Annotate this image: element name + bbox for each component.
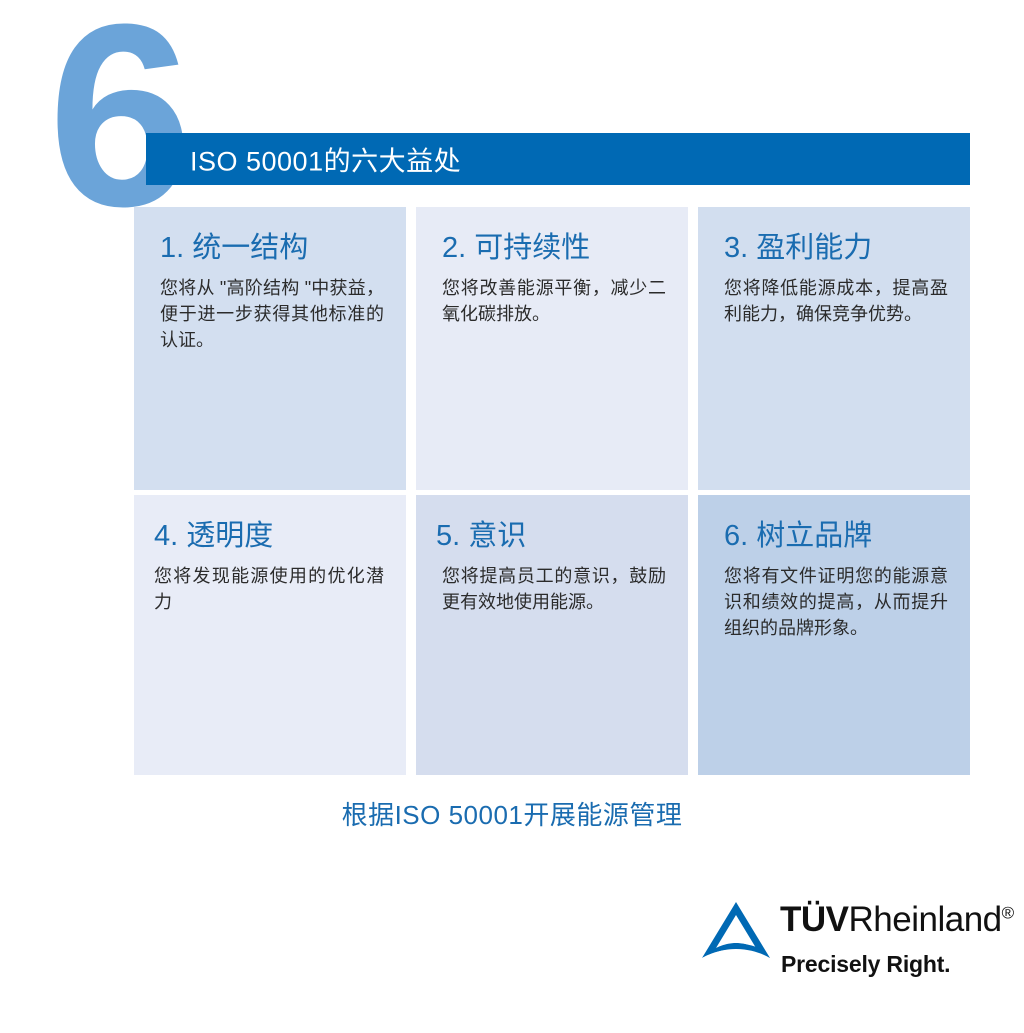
benefit-card-5-title: 5. 意识 <box>436 519 668 553</box>
benefit-card-6: 6. 树立品牌 您将有文件证明您的能源意识和绩效的提高，从而提升组织的品牌形象。 <box>698 495 970 775</box>
benefit-card-5: 5. 意识 您将提高员工的意识，鼓励更有效地使用能源。 <box>416 495 688 775</box>
tuv-triangle-icon <box>700 900 772 962</box>
benefit-card-4-body: 您将发现能源使用的优化潜力 <box>154 563 386 615</box>
benefit-card-1-body: 您将从 "高阶结构 "中获益，便于进一步获得其他标准的认证。 <box>154 275 386 353</box>
benefit-card-1: 1. 统一结构 您将从 "高阶结构 "中获益，便于进一步获得其他标准的认证。 <box>134 207 406 490</box>
benefit-card-5-body: 您将提高员工的意识，鼓励更有效地使用能源。 <box>436 563 668 615</box>
registered-trademark-icon: ® <box>1002 903 1015 922</box>
benefit-card-2-body: 您将改善能源平衡，减少二氧化碳排放。 <box>436 275 668 327</box>
benefit-card-6-body: 您将有文件证明您的能源意识和绩效的提高，从而提升组织的品牌形象。 <box>718 563 950 641</box>
benefit-card-3-title: 3. 盈利能力 <box>718 231 950 265</box>
logo-brand-bold: TÜV <box>780 900 849 939</box>
logo-tagline: Precisely Right. <box>781 951 950 978</box>
benefits-grid: 1. 统一结构 您将从 "高阶结构 "中获益，便于进一步获得其他标准的认证。 2… <box>134 207 970 775</box>
header-title: ISO 50001的六大益处 <box>190 140 461 179</box>
header-bar: ISO 50001的六大益处 <box>146 133 970 185</box>
benefit-card-1-title: 1. 统一结构 <box>154 231 386 265</box>
benefit-card-4-title: 4. 透明度 <box>154 519 386 553</box>
benefit-card-4: 4. 透明度 您将发现能源使用的优化潜力 <box>134 495 406 775</box>
tuv-rheinland-logo: TÜVRheinland® Precisely Right. <box>700 898 990 988</box>
benefit-card-6-title: 6. 树立品牌 <box>718 519 950 553</box>
benefit-card-2-title: 2. 可持续性 <box>436 231 668 265</box>
benefit-card-2: 2. 可持续性 您将改善能源平衡，减少二氧化碳排放。 <box>416 207 688 490</box>
benefit-card-3: 3. 盈利能力 您将降低能源成本，提高盈利能力，确保竞争优势。 <box>698 207 970 490</box>
caption: 根据ISO 50001开展能源管理 <box>0 795 1024 832</box>
tuv-rheinland-wordmark: TÜVRheinland® <box>780 902 1014 937</box>
logo-brand-regular: Rheinland <box>849 900 1002 939</box>
benefit-card-3-body: 您将降低能源成本，提高盈利能力，确保竞争优势。 <box>718 275 950 327</box>
